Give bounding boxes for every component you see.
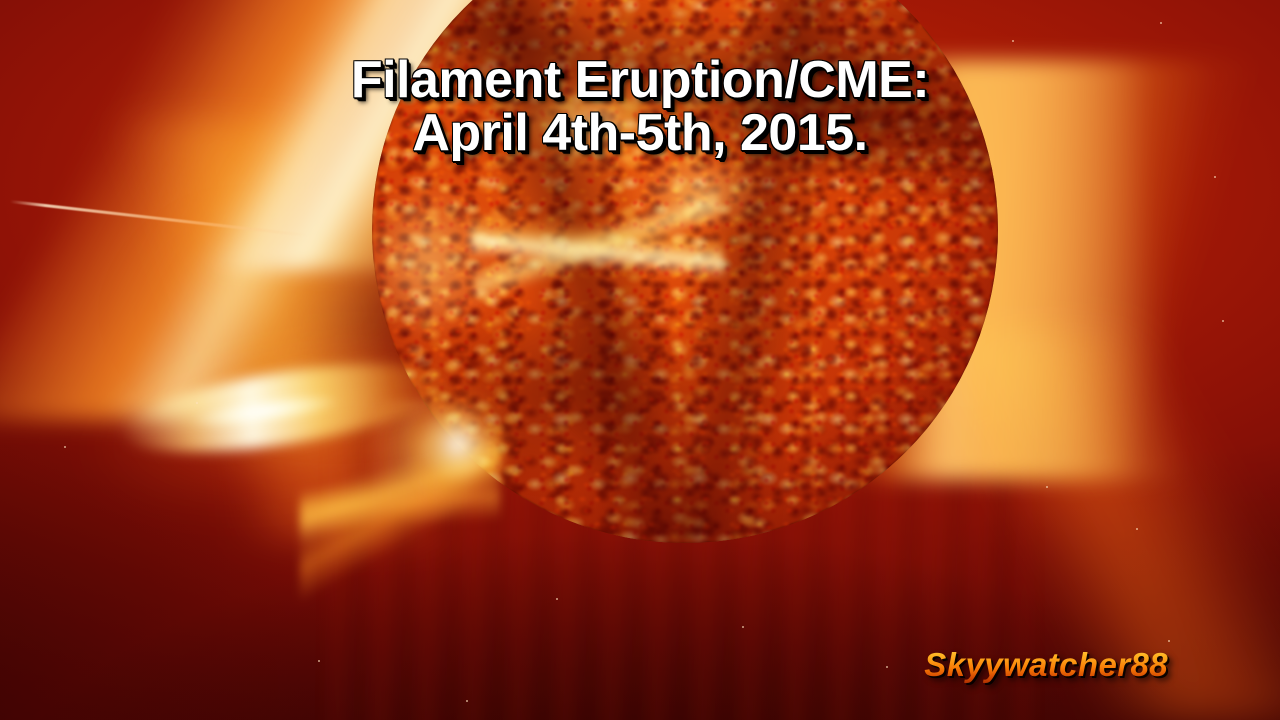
- background-speck: [1222, 320, 1224, 322]
- background-speck: [1214, 176, 1216, 178]
- background-speck: [1046, 486, 1048, 488]
- background-speck: [1012, 40, 1014, 42]
- background-speck: [556, 598, 558, 600]
- background-speck: [64, 446, 66, 448]
- screenshot-frame: Filament Eruption/CME: April 4th-5th, 20…: [0, 0, 1280, 720]
- background-speck: [1160, 22, 1162, 24]
- background-speck: [196, 402, 198, 404]
- background-speck: [1136, 528, 1138, 530]
- background-speck: [886, 666, 888, 668]
- background-speck: [466, 700, 468, 702]
- background-speck: [742, 626, 744, 628]
- background-speck: [318, 660, 320, 662]
- background-speck: [1168, 640, 1170, 642]
